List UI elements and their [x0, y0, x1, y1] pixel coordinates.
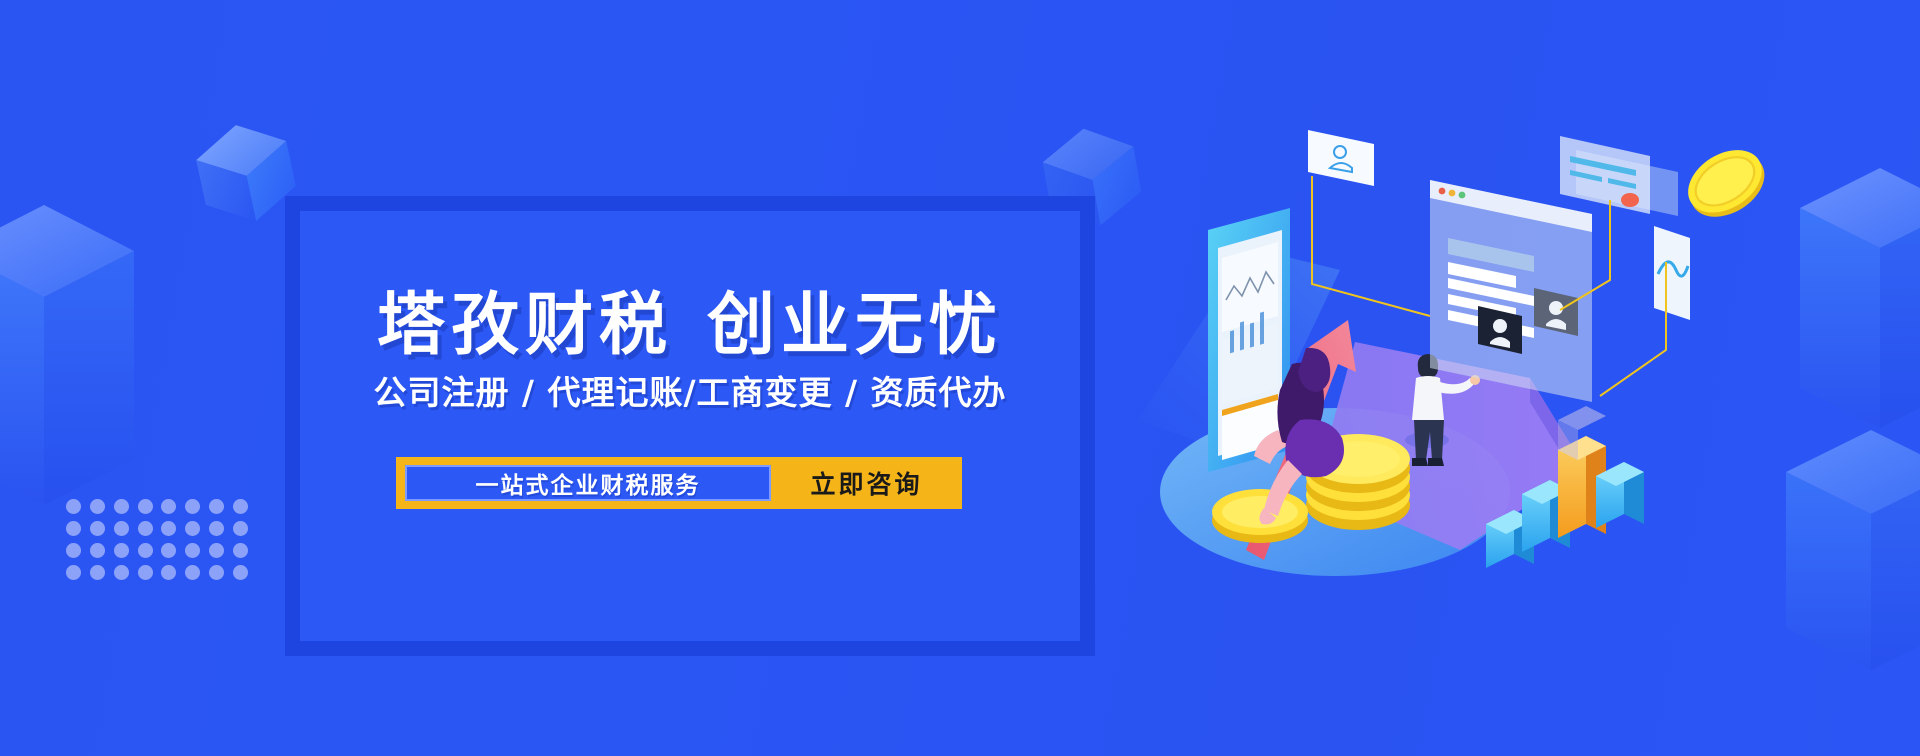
isometric-business-illustration: [1130, 120, 1690, 590]
line-chart-card-icon: [1600, 226, 1690, 396]
profile-card-icon: [1308, 130, 1430, 316]
rising-arrow-icon: [1246, 320, 1356, 560]
page-title: 塔孜财税创业无忧: [300, 278, 1080, 374]
seated-woman-figure: [1254, 348, 1344, 525]
promo-banner: 塔孜财税创业无忧 公司注册 / 代理记账/工商变更 / 资质代办 一站式企业财税…: [0, 0, 1920, 756]
standing-man-figure: [1405, 354, 1480, 466]
smartphone-chart: [1208, 208, 1290, 472]
one-stop-service-pill[interactable]: 一站式企业财税服务: [405, 465, 771, 501]
bar-chart-3d-icon: [1486, 406, 1644, 568]
consult-now-button[interactable]: 立即咨询: [771, 457, 962, 509]
cta-bar: 一站式企业财税服务 立即咨询: [396, 457, 962, 509]
page-title-part1: 塔孜财税: [377, 286, 673, 365]
cube-right-tall-icon: [1800, 168, 1920, 428]
services-subtitle: 公司注册 / 代理记账/工商变更 / 资质代办: [300, 370, 1080, 416]
cube-right-lower-icon: [1786, 430, 1920, 670]
coin-top-right-icon: [1680, 140, 1772, 226]
headline-card: [300, 211, 1080, 641]
cube-top-left-icon: [192, 118, 300, 228]
coin-stack-icon: [1212, 434, 1410, 543]
credit-card-icon: [1560, 136, 1678, 310]
page-title-part2: 创业无忧: [707, 286, 1003, 365]
dashboard-window: [1430, 180, 1592, 402]
cube-left-tall-icon: [0, 205, 134, 505]
dot-grid-decoration: [62, 495, 252, 583]
